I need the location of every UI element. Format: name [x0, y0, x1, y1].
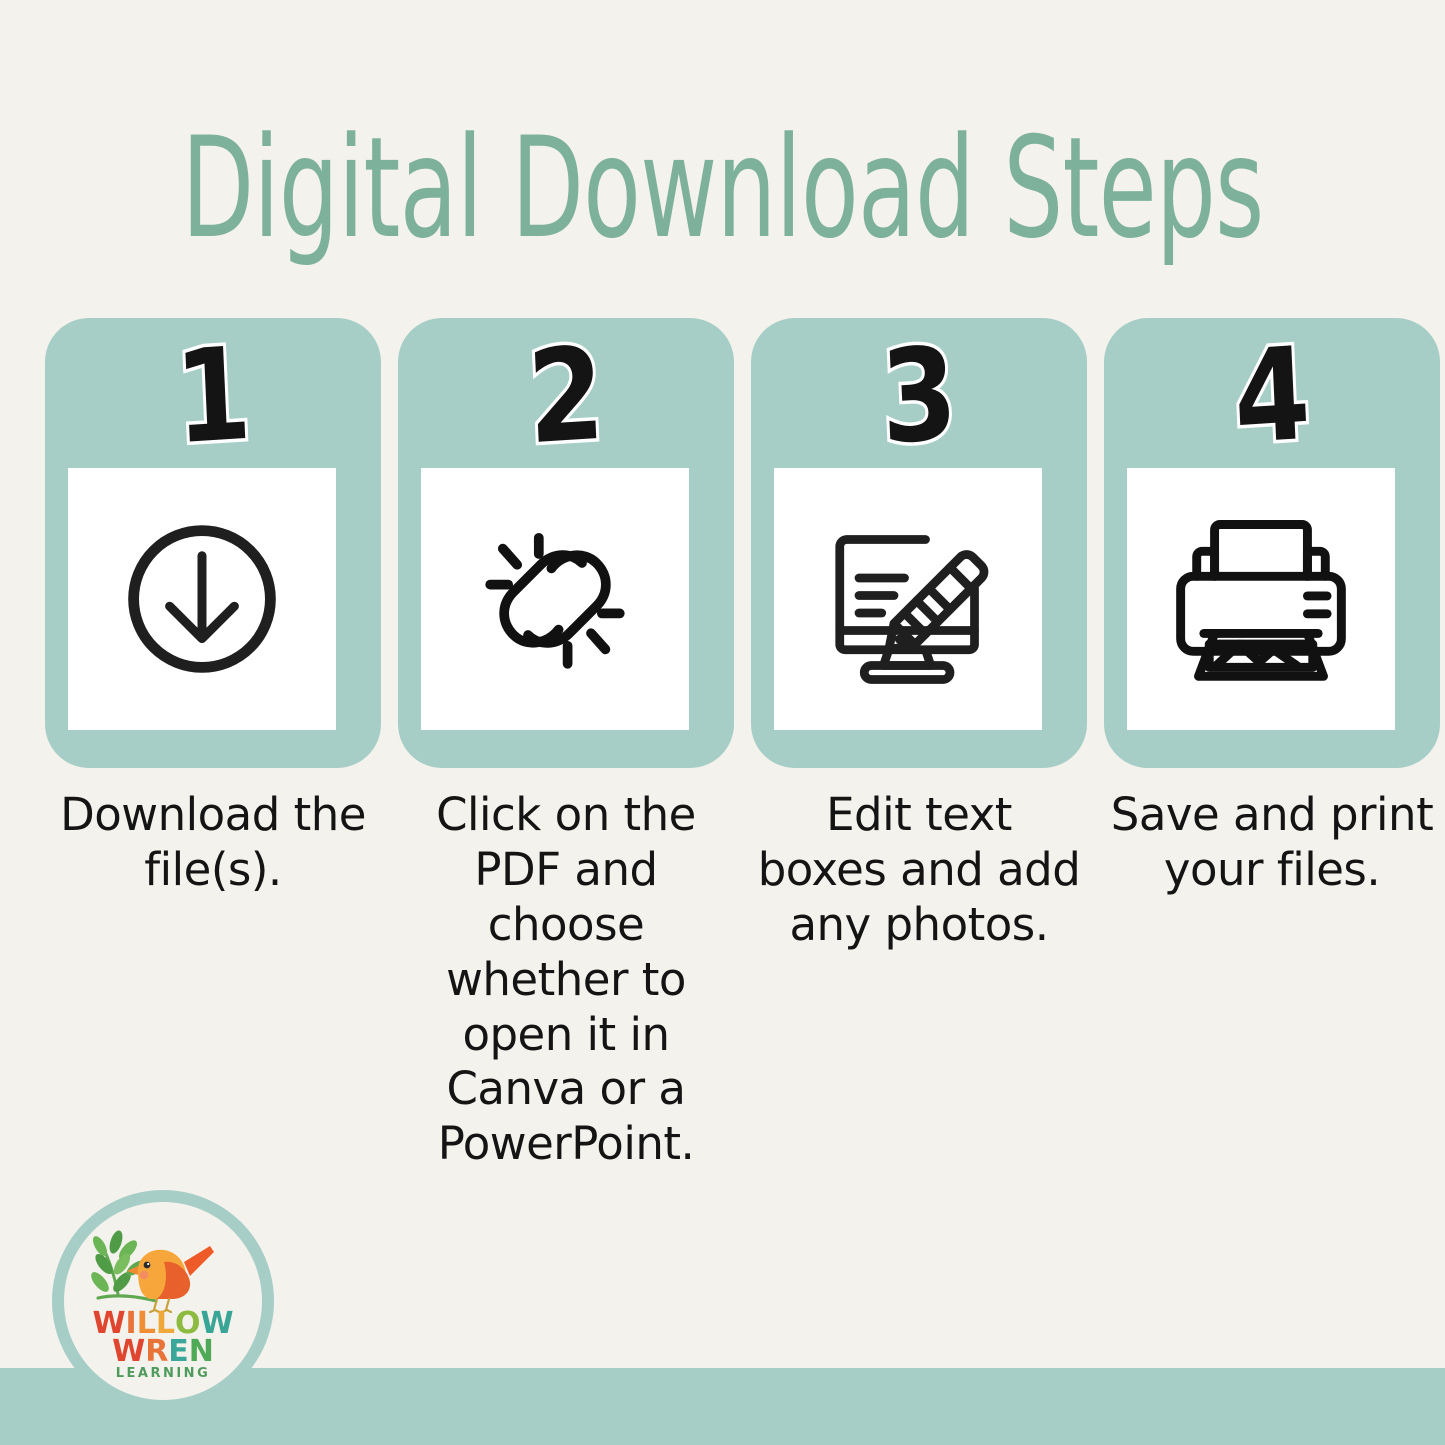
logo-disc: WILLOW WREN LEARNING: [64, 1202, 262, 1400]
step-number-1: 1: [67, 321, 358, 473]
step-caption-4: Save and print your files.: [1104, 788, 1440, 1172]
step-caption-2: Click on the PDF and choose whether to o…: [398, 788, 734, 1172]
step-icon-plate-3: [774, 468, 1042, 730]
step-number-3: 3: [773, 321, 1064, 473]
willow-wren-learning-logo: WILLOW WREN LEARNING: [52, 1190, 274, 1412]
step-number-4: 4: [1126, 321, 1417, 473]
step-icon-plate-2: [421, 468, 689, 730]
step-caption-1: Download the file(s).: [45, 788, 381, 1172]
step-card-2: 2: [398, 318, 734, 768]
wren-bird-icon: [127, 1246, 214, 1312]
step-card-3: 3: [751, 318, 1087, 768]
logo-word-learning: LEARNING: [64, 1366, 262, 1381]
step-icon-plate-1: [68, 468, 336, 730]
printer-icon: [1171, 512, 1351, 687]
page-title: Digital Download Steps: [145, 118, 1301, 257]
logo-word-wren: WREN: [64, 1334, 262, 1369]
step-caption-3: Edit text boxes and add any photos.: [751, 788, 1087, 1172]
monitor-pencil-edit-icon: [817, 510, 999, 688]
step-card-4: 4: [1104, 318, 1440, 768]
step-number-2: 2: [420, 321, 711, 473]
broken-link-sparkle-icon: [465, 509, 645, 689]
step-card-1: 1: [45, 318, 381, 768]
step-icon-plate-4: [1127, 468, 1395, 730]
download-circle-icon: [112, 509, 292, 689]
steps-card-row: 1 2: [45, 318, 1440, 768]
steps-caption-row: Download the file(s). Click on the PDF a…: [45, 788, 1440, 1172]
